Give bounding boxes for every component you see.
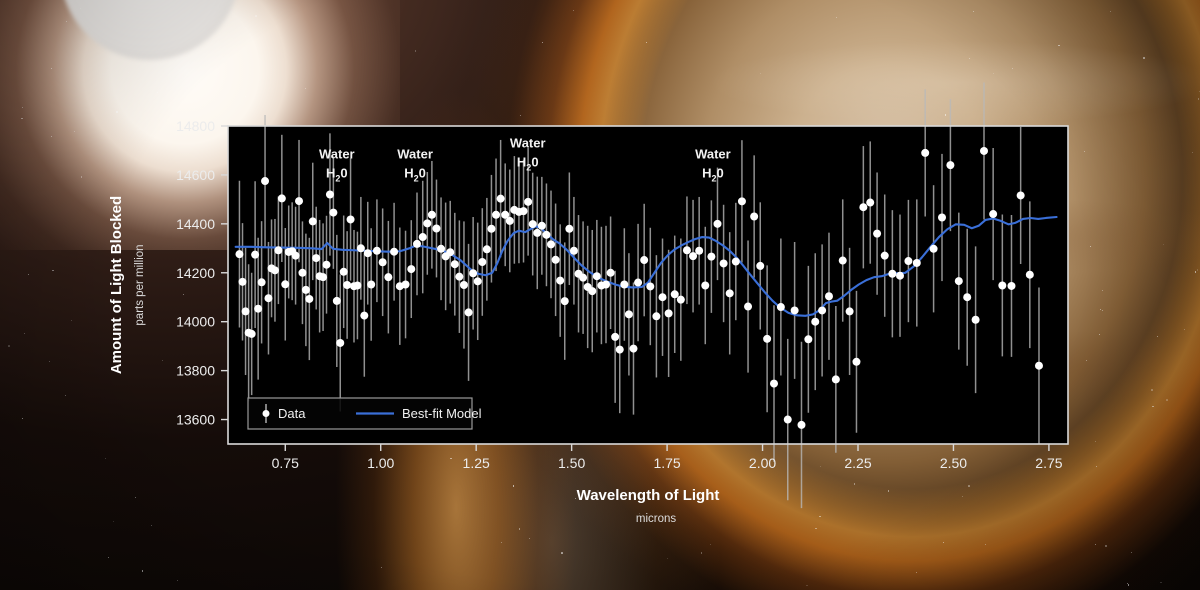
data-point[interactable]: [340, 268, 348, 276]
data-point[interactable]: [295, 197, 303, 205]
legend-label-model: Best-fit Model: [402, 406, 482, 421]
data-point[interactable]: [254, 305, 262, 313]
data-point[interactable]: [671, 290, 679, 298]
data-point[interactable]: [616, 346, 624, 354]
data-point[interactable]: [634, 279, 642, 287]
data-point[interactable]: [797, 421, 805, 429]
data-point[interactable]: [239, 278, 247, 286]
x-axis-subtitle: microns: [636, 513, 677, 525]
data-point[interactable]: [770, 380, 778, 388]
data-point[interactable]: [455, 273, 463, 281]
data-point[interactable]: [1026, 271, 1034, 279]
data-point[interactable]: [750, 213, 758, 221]
data-point[interactable]: [726, 289, 734, 297]
data-point[interactable]: [428, 211, 436, 219]
data-point[interactable]: [839, 257, 847, 265]
y-tick-label: 14800: [176, 118, 215, 134]
data-point[interactable]: [629, 345, 637, 353]
data-point[interactable]: [732, 258, 740, 266]
data-point[interactable]: [336, 339, 344, 347]
data-point[interactable]: [264, 294, 272, 302]
data-point[interactable]: [437, 245, 445, 253]
x-tick-label: 2.00: [749, 455, 776, 471]
data-point[interactable]: [859, 203, 867, 211]
data-point[interactable]: [542, 231, 550, 239]
data-point[interactable]: [364, 249, 372, 257]
data-point[interactable]: [529, 220, 537, 228]
data-point[interactable]: [333, 297, 341, 305]
data-point[interactable]: [460, 281, 468, 289]
data-point[interactable]: [665, 309, 673, 317]
data-point[interactable]: [520, 207, 528, 215]
figure-stage: 0.751.001.251.501.752.002.252.502.75 136…: [0, 0, 1200, 590]
data-point[interactable]: [744, 303, 752, 311]
data-point[interactable]: [309, 217, 317, 225]
data-point[interactable]: [904, 257, 912, 265]
data-point[interactable]: [659, 293, 667, 301]
data-point[interactable]: [720, 259, 728, 267]
data-point[interactable]: [913, 259, 921, 267]
x-tick-label: 1.25: [463, 455, 490, 471]
data-point[interactable]: [607, 269, 615, 277]
data-point[interactable]: [281, 280, 289, 288]
data-point[interactable]: [1035, 362, 1043, 370]
data-point[interactable]: [390, 248, 398, 256]
data-point[interactable]: [1007, 282, 1015, 290]
y-tick-label: 14600: [176, 167, 215, 183]
annotation-label: Water: [510, 136, 546, 151]
data-point[interactable]: [274, 246, 282, 254]
data-point[interactable]: [432, 224, 440, 232]
data-point[interactable]: [451, 260, 459, 268]
data-point[interactable]: [323, 261, 331, 269]
data-point[interactable]: [873, 230, 881, 238]
y-tick-label: 13800: [176, 363, 215, 379]
data-point[interactable]: [305, 295, 313, 303]
data-point[interactable]: [677, 296, 685, 304]
data-point[interactable]: [980, 147, 988, 155]
data-point[interactable]: [738, 197, 746, 205]
data-point[interactable]: [938, 213, 946, 221]
data-point[interactable]: [881, 252, 889, 260]
data-point[interactable]: [602, 281, 610, 289]
x-tick-label: 2.75: [1035, 455, 1062, 471]
data-point[interactable]: [524, 198, 532, 206]
data-point[interactable]: [1017, 191, 1025, 199]
data-point[interactable]: [972, 316, 980, 324]
data-point[interactable]: [319, 273, 327, 281]
data-point[interactable]: [588, 287, 596, 295]
data-point[interactable]: [497, 195, 505, 203]
data-point[interactable]: [407, 265, 415, 273]
data-point[interactable]: [248, 330, 256, 338]
data-point[interactable]: [683, 246, 691, 254]
data-point[interactable]: [373, 247, 381, 255]
data-point[interactable]: [367, 281, 375, 289]
x-axis-ticks: 0.751.001.251.501.752.002.252.502.75: [272, 444, 1063, 471]
data-point[interactable]: [713, 220, 721, 228]
data-point[interactable]: [561, 297, 569, 305]
y-tick-label: 14400: [176, 216, 215, 232]
data-point[interactable]: [579, 274, 587, 282]
data-point[interactable]: [251, 251, 259, 259]
data-point[interactable]: [483, 245, 491, 253]
data-point[interactable]: [506, 217, 514, 225]
data-point[interactable]: [302, 286, 310, 294]
data-point[interactable]: [552, 256, 560, 264]
data-point[interactable]: [811, 318, 819, 326]
data-point[interactable]: [329, 209, 337, 217]
data-point[interactable]: [804, 335, 812, 343]
data-point[interactable]: [565, 225, 573, 233]
data-point[interactable]: [478, 258, 486, 266]
data-point[interactable]: [261, 177, 269, 185]
data-point[interactable]: [538, 222, 546, 230]
data-point[interactable]: [292, 252, 300, 260]
data-point[interactable]: [242, 307, 250, 315]
legend-data-marker-icon: [263, 410, 270, 417]
data-point[interactable]: [707, 253, 715, 261]
data-point[interactable]: [756, 262, 764, 270]
annotation-label: Water: [695, 146, 731, 161]
data-point[interactable]: [701, 281, 709, 289]
x-axis-title: Wavelength of Light: [577, 487, 720, 504]
data-point[interactable]: [556, 277, 564, 285]
data-point[interactable]: [465, 308, 473, 316]
data-point[interactable]: [360, 312, 368, 320]
data-point[interactable]: [791, 306, 799, 314]
data-point[interactable]: [474, 277, 482, 285]
data-point[interactable]: [492, 211, 500, 219]
chart-legend[interactable]: Data Best-fit Model: [248, 398, 482, 429]
data-point[interactable]: [846, 307, 854, 315]
data-point[interactable]: [611, 333, 619, 341]
data-point[interactable]: [625, 310, 633, 318]
data-point[interactable]: [998, 281, 1006, 289]
data-point[interactable]: [593, 272, 601, 280]
data-point[interactable]: [413, 240, 421, 248]
data-point[interactable]: [896, 272, 904, 280]
data-point[interactable]: [763, 335, 771, 343]
annotation-label: Water: [397, 146, 433, 161]
data-point[interactable]: [921, 149, 929, 157]
data-point[interactable]: [888, 270, 896, 278]
data-point[interactable]: [930, 245, 938, 253]
data-point[interactable]: [298, 269, 306, 277]
data-point[interactable]: [547, 240, 555, 248]
x-tick-label: 1.50: [558, 455, 585, 471]
data-point[interactable]: [423, 219, 431, 227]
data-point[interactable]: [652, 312, 660, 320]
data-point[interactable]: [689, 252, 697, 260]
data-point[interactable]: [353, 281, 361, 289]
data-point[interactable]: [357, 244, 365, 252]
data-point[interactable]: [946, 161, 954, 169]
data-point[interactable]: [832, 375, 840, 383]
data-point[interactable]: [570, 247, 578, 255]
data-point[interactable]: [825, 292, 833, 300]
x-tick-label: 2.50: [940, 455, 967, 471]
data-point[interactable]: [402, 281, 410, 289]
transmission-spectrum-chart: 0.751.001.251.501.752.002.252.502.75 136…: [0, 0, 1200, 590]
data-point[interactable]: [258, 278, 266, 286]
data-point[interactable]: [347, 215, 355, 223]
y-axis-subtitle: parts per million: [134, 244, 146, 325]
legend-label-data: Data: [278, 406, 306, 421]
x-tick-label: 2.25: [844, 455, 871, 471]
data-point[interactable]: [278, 194, 286, 202]
data-point[interactable]: [487, 225, 495, 233]
data-point[interactable]: [955, 277, 963, 285]
data-point[interactable]: [852, 358, 860, 366]
data-point[interactable]: [419, 233, 427, 241]
y-tick-label: 14000: [176, 314, 215, 330]
data-point[interactable]: [989, 210, 997, 218]
data-point[interactable]: [384, 273, 392, 281]
data-point[interactable]: [963, 293, 971, 301]
data-point[interactable]: [620, 281, 628, 289]
data-point[interactable]: [818, 306, 826, 314]
x-tick-label: 0.75: [272, 455, 299, 471]
data-point[interactable]: [533, 229, 541, 237]
y-axis-ticks: 13600138001400014200144001460014800: [176, 118, 228, 428]
data-point[interactable]: [866, 199, 874, 207]
y-tick-label: 13600: [176, 412, 215, 428]
data-point[interactable]: [379, 258, 387, 266]
data-point[interactable]: [312, 254, 320, 262]
data-point[interactable]: [343, 281, 351, 289]
data-point[interactable]: [777, 303, 785, 311]
data-point[interactable]: [271, 266, 279, 274]
data-point[interactable]: [646, 282, 654, 290]
data-point[interactable]: [640, 256, 648, 264]
data-point[interactable]: [235, 250, 243, 258]
data-point[interactable]: [326, 190, 334, 198]
data-point[interactable]: [469, 269, 477, 277]
data-point[interactable]: [446, 248, 454, 256]
y-tick-label: 14200: [176, 265, 215, 281]
data-point[interactable]: [784, 416, 792, 424]
x-tick-label: 1.75: [653, 455, 680, 471]
annotation-label: Water: [319, 146, 355, 161]
data-point[interactable]: [695, 247, 703, 255]
x-tick-label: 1.00: [367, 455, 394, 471]
y-axis-title: Amount of Light Blocked: [108, 196, 125, 374]
